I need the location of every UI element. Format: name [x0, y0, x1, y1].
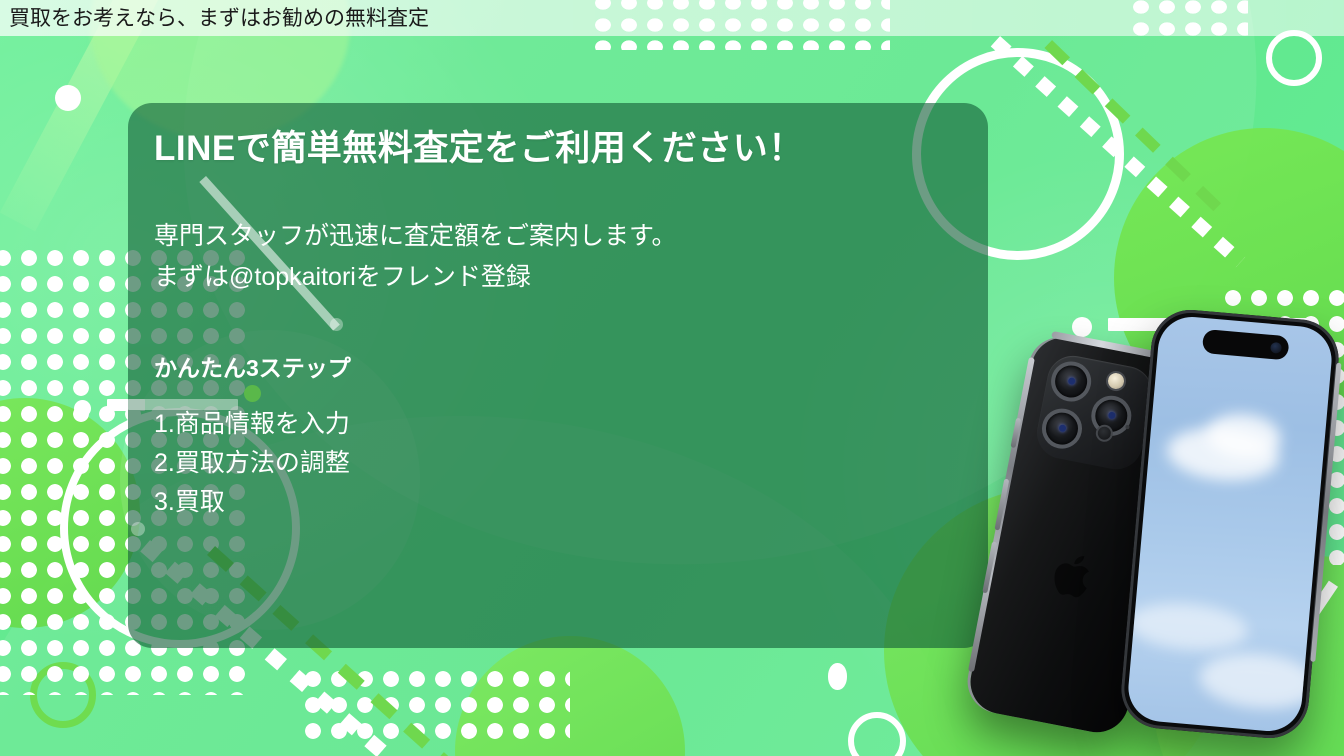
- camera-lens-icon: [1039, 405, 1086, 452]
- list-item: 1.商品情報を入力: [154, 405, 954, 444]
- front-camera-icon: [1270, 341, 1282, 353]
- steps-heading: かんたん3ステップ: [154, 349, 954, 383]
- dot-top-left: [55, 85, 81, 111]
- list-item: 2.買取方法の調整: [154, 444, 954, 483]
- banner-root: LINEで簡単無料査定をご利用ください！ 専門スタッフが迅速に査定額をご案内しま…: [0, 0, 1344, 756]
- camera-flash-icon: [1104, 369, 1127, 392]
- ring-outline-small-top-right: [1266, 30, 1322, 86]
- topbar-title: 買取をお考えなら、まずはお勧めの無料査定: [9, 8, 429, 29]
- page-title: LINEで簡単無料査定をご利用ください！: [154, 128, 954, 170]
- lede-line-2: まずは@topkaitoriをフレンド登録: [154, 257, 954, 298]
- steps-list: 1.商品情報を入力 2.買取方法の調整 3.買取: [154, 405, 954, 521]
- phone-button-mute: [1010, 418, 1021, 448]
- microphone-icon: [1125, 425, 1130, 430]
- topbar: 買取をお考えなら、まずはお勧めの無料査定: [0, 0, 1344, 36]
- phone-screen: [1126, 314, 1335, 734]
- list-item: 3.買取: [154, 483, 954, 522]
- camera-lens-icon: [1048, 358, 1095, 405]
- dot-over-card-lower: [131, 522, 145, 536]
- iphone-front-view: [1118, 307, 1342, 742]
- dot-middle-left: [74, 400, 91, 417]
- banner-copy: LINEで簡単無料査定をご利用ください！ 専門スタッフが迅速に査定額をご案内しま…: [154, 128, 954, 521]
- apple-logo-icon: [1046, 546, 1099, 605]
- dot-bottom-center: [828, 663, 847, 690]
- cloud-decoration: [1126, 599, 1250, 655]
- product-photo-phones: [988, 300, 1344, 756]
- cloud-decoration: [1197, 649, 1319, 713]
- phone-button-volume-up: [994, 479, 1009, 531]
- lede-text: 専門スタッフが迅速に査定額をご案内します。 まずは@topkaitoriをフレン…: [154, 216, 954, 297]
- dynamic-island: [1202, 329, 1290, 360]
- lede-line-1: 専門スタッフが迅速に査定額をご案内します。: [154, 216, 954, 257]
- camera-module: [1033, 351, 1157, 473]
